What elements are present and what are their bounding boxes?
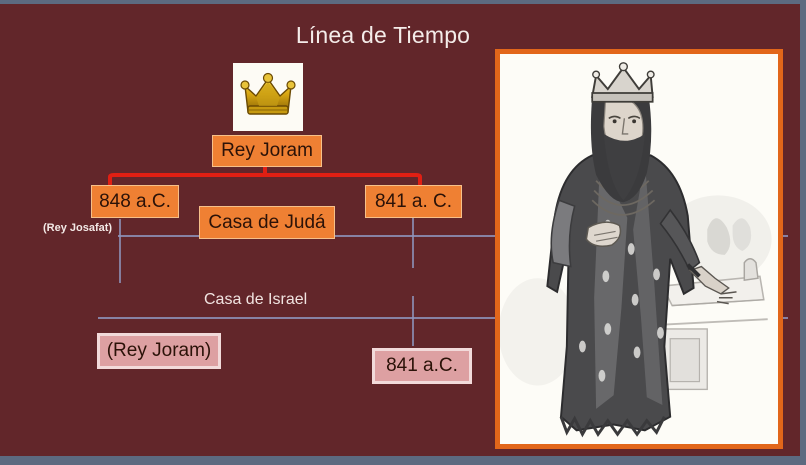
caption-rey-josafat: (Rey Josafat) [43,222,112,234]
label-box-casa-de-juda[interactable]: Casa de Judá [199,206,335,239]
label-box-rey-joram-israel[interactable]: (Rey Joram) [97,333,221,369]
slide-canvas: Línea de Tiempo [0,0,806,465]
crown-icon [233,68,303,126]
slide-background: Línea de Tiempo [0,4,800,456]
label-box-848-ac[interactable]: 848 a.C. [91,185,179,218]
tick-mark-841-judah [412,216,414,268]
tick-mark-848 [119,219,121,283]
tick-mark-841-israel [412,296,414,346]
label-box-841-ac-judah[interactable]: 841 a. C. [365,185,462,218]
label-casa-de-israel: Casa de Israel [204,291,307,309]
page-title: Línea de Tiempo [268,22,498,49]
king-joram-illustration [495,49,783,449]
label-box-841-ac-israel[interactable]: 841 a.C. [372,348,472,384]
label-box-rey-joram-judah[interactable]: Rey Joram [212,135,322,167]
crown-image-container [233,63,303,131]
